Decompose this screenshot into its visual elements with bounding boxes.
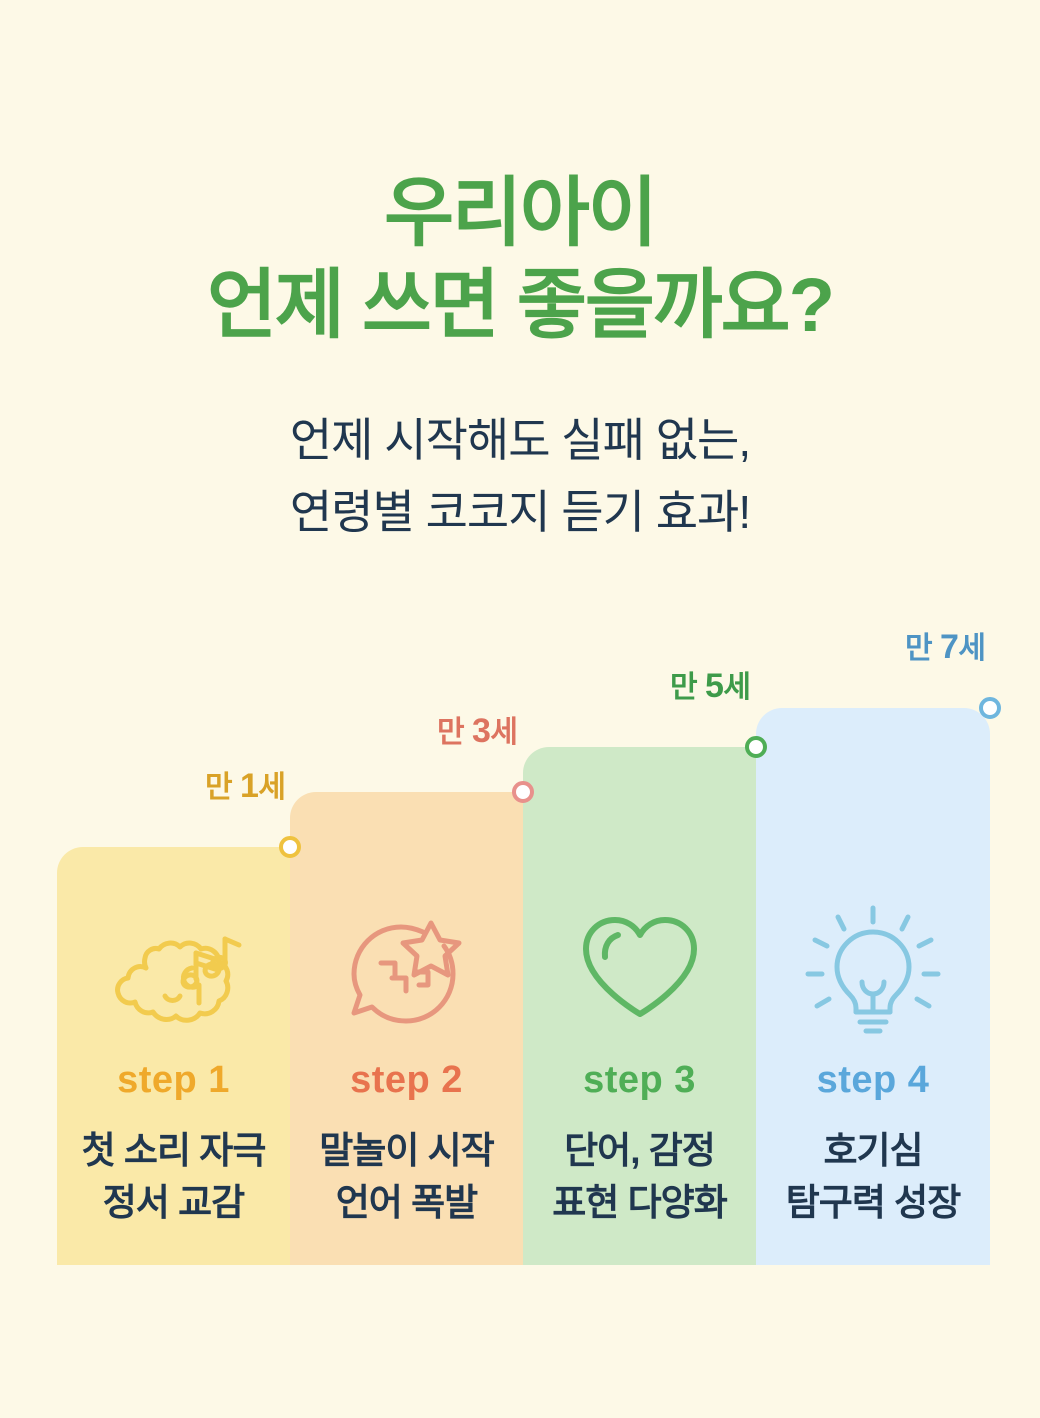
heart-icon xyxy=(523,890,756,1040)
step-description-1-line-2: 정서 교감 xyxy=(57,1177,290,1229)
age-suffix-1: 세 xyxy=(258,771,285,804)
age-dot-step-2 xyxy=(512,781,534,803)
step-description-1: 첫 소리 자극 정서 교감 xyxy=(57,1125,290,1229)
step-description-3-line-2: 표현 다양화 xyxy=(523,1177,756,1229)
step-description-4-line-2: 탐구력 성장 xyxy=(756,1177,990,1229)
age-number-1: 1 xyxy=(240,767,258,805)
step-description-3-line-1: 단어, 감정 xyxy=(523,1125,756,1177)
step-description-2-line-2: 언어 폭발 xyxy=(290,1177,523,1229)
chart-bar-step-4[interactable]: step 4 호기심 탐구력 성장 xyxy=(756,708,990,1265)
age-number-2: 3 xyxy=(472,712,490,750)
age-number-4: 7 xyxy=(940,628,958,666)
age-dot-step-1 xyxy=(279,836,301,858)
age-step-bar-chart: step 1 첫 소리 자극 정서 교감 step 2 말놀이 시작 언어 폭발 xyxy=(0,0,1040,1418)
step-description-1-line-1: 첫 소리 자극 xyxy=(57,1125,290,1177)
step-label-2: step 2 xyxy=(290,1059,523,1102)
step-label-3: step 3 xyxy=(523,1059,756,1102)
step-description-4-line-1: 호기심 xyxy=(756,1125,990,1177)
brain-music-icon xyxy=(57,890,290,1040)
age-label-step-2: 만 3세 xyxy=(437,707,517,751)
age-dot-step-4 xyxy=(979,697,1001,719)
age-prefix-2: 만 xyxy=(437,716,472,749)
step-description-2-line-1: 말놀이 시작 xyxy=(290,1125,523,1177)
age-prefix-4: 만 xyxy=(905,632,940,665)
age-label-step-1: 만 1세 xyxy=(205,762,285,806)
step-description-4: 호기심 탐구력 성장 xyxy=(756,1125,990,1229)
step-label-1: step 1 xyxy=(57,1059,290,1102)
step-description-2: 말놀이 시작 언어 폭발 xyxy=(290,1125,523,1229)
speech-bubble-star-icon xyxy=(290,890,523,1040)
age-suffix-3: 세 xyxy=(723,671,750,704)
age-label-step-3: 만 5세 xyxy=(670,662,750,706)
age-dot-step-3 xyxy=(745,736,767,758)
chart-bar-step-3[interactable]: step 3 단어, 감정 표현 다양화 xyxy=(523,747,756,1265)
age-suffix-2: 세 xyxy=(490,716,517,749)
step-description-3: 단어, 감정 표현 다양화 xyxy=(523,1125,756,1229)
chart-bar-step-1[interactable]: step 1 첫 소리 자극 정서 교감 xyxy=(57,847,290,1265)
lightbulb-icon xyxy=(756,890,990,1040)
chart-bar-step-2[interactable]: step 2 말놀이 시작 언어 폭발 xyxy=(290,792,523,1265)
step-label-4: step 4 xyxy=(756,1059,990,1102)
age-prefix-1: 만 xyxy=(205,771,240,804)
age-suffix-4: 세 xyxy=(958,632,985,665)
age-prefix-3: 만 xyxy=(670,671,705,704)
age-number-3: 5 xyxy=(705,667,723,705)
age-label-step-4: 만 7세 xyxy=(905,623,985,667)
